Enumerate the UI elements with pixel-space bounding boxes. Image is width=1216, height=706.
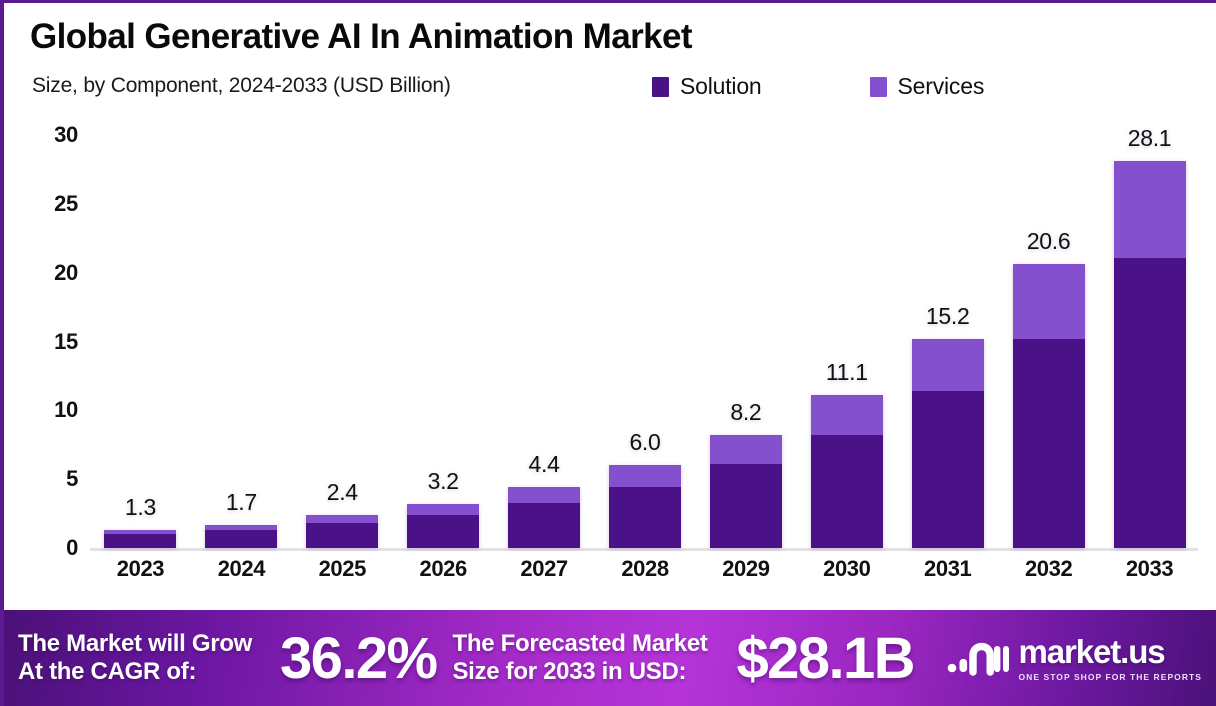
- bar-group[interactable]: 3.2: [394, 113, 492, 548]
- bar-stack[interactable]: 6.0: [609, 465, 681, 548]
- y-axis-tick: 20: [54, 260, 78, 286]
- legend-item-solution[interactable]: Solution: [652, 73, 762, 100]
- bar-segment-services[interactable]: [811, 395, 883, 435]
- bar-value-label: 20.6: [1027, 228, 1071, 255]
- bar-segment-solution[interactable]: [508, 503, 580, 548]
- bar-stack[interactable]: 15.2: [912, 339, 984, 548]
- bar-value-label: 6.0: [629, 429, 660, 456]
- bar-stack[interactable]: 11.1: [811, 395, 883, 548]
- bar-group[interactable]: 11.1: [798, 113, 896, 548]
- chart-plot-area: 051015202530 1.31.72.43.24.46.08.211.115…: [4, 113, 1216, 608]
- bar-value-label: 1.7: [226, 489, 257, 516]
- forecast-label: The Forecasted Market Size for 2033 in U…: [452, 630, 732, 687]
- x-axis-label: 2028: [596, 556, 694, 582]
- x-axis-label: 2031: [899, 556, 997, 582]
- bar-value-label: 11.1: [826, 359, 868, 386]
- bar-segment-solution[interactable]: [609, 487, 681, 548]
- bar-value-label: 4.4: [529, 451, 560, 478]
- bar-value-label: 2.4: [327, 479, 358, 506]
- bar-segment-solution[interactable]: [306, 523, 378, 548]
- bar-value-label: 15.2: [926, 303, 970, 330]
- bar-segment-services[interactable]: [710, 435, 782, 464]
- logo-text-block: market.us ONE STOP SHOP FOR THE REPORTS: [1019, 635, 1202, 682]
- x-axis-label: 2024: [192, 556, 290, 582]
- bar-group[interactable]: 28.1: [1101, 113, 1199, 548]
- x-axis-label: 2030: [798, 556, 896, 582]
- x-axis-label: 2023: [91, 556, 189, 582]
- y-axis-tick: 30: [54, 122, 78, 148]
- bar-segment-solution[interactable]: [407, 515, 479, 548]
- bar-value-label: 8.2: [730, 399, 761, 426]
- bar-segment-solution[interactable]: [710, 464, 782, 548]
- y-axis-tick: 25: [54, 191, 78, 217]
- bar-value-label: 3.2: [428, 468, 459, 495]
- bar-stack[interactable]: 3.2: [407, 504, 479, 548]
- bar-stack[interactable]: 1.3: [104, 530, 176, 548]
- bar-segment-services[interactable]: [306, 515, 378, 523]
- bar-segment-services[interactable]: [508, 487, 580, 502]
- y-axis: 051015202530: [4, 113, 90, 553]
- bar-segment-solution[interactable]: [811, 435, 883, 548]
- bar-stack[interactable]: 1.7: [205, 525, 277, 548]
- bar-value-label: 1.3: [125, 494, 156, 521]
- chart-legend: Solution Services: [652, 73, 984, 100]
- bar-segment-services[interactable]: [1114, 161, 1186, 257]
- logo-wordmark: market.us: [1019, 635, 1202, 668]
- chart-subtitle: Size, by Component, 2024-2033 (USD Billi…: [32, 74, 451, 98]
- legend-item-services[interactable]: Services: [870, 73, 985, 100]
- x-axis-line: [90, 548, 1198, 551]
- logo-tagline: ONE STOP SHOP FOR THE REPORTS: [1019, 672, 1202, 682]
- x-axis-label: 2033: [1101, 556, 1199, 582]
- bar-group[interactable]: 20.6: [1000, 113, 1098, 548]
- forecast-label-line1: The Forecasted Market: [452, 630, 707, 657]
- y-axis-tick: 15: [54, 329, 78, 355]
- bar-segment-services[interactable]: [609, 465, 681, 487]
- x-axis-label: 2026: [394, 556, 492, 582]
- bar-stack[interactable]: 8.2: [710, 435, 782, 548]
- bar-value-label: 28.1: [1128, 125, 1172, 152]
- cagr-label: The Market will Grow At the CAGR of:: [18, 630, 278, 687]
- x-axis-label: 2029: [697, 556, 795, 582]
- bar-group[interactable]: 8.2: [697, 113, 795, 548]
- market-us-logo[interactable]: market.us ONE STOP SHOP FOR THE REPORTS: [947, 635, 1202, 682]
- bar-group[interactable]: 2.4: [293, 113, 391, 548]
- bar-group[interactable]: 15.2: [899, 113, 997, 548]
- bar-stack[interactable]: 28.1: [1114, 161, 1186, 548]
- bar-segment-solution[interactable]: [205, 530, 277, 548]
- infographic-root: Global Generative AI In Animation Market…: [0, 0, 1216, 706]
- x-axis-label: 2025: [293, 556, 391, 582]
- bar-group[interactable]: 1.7: [192, 113, 290, 548]
- bar-segment-solution[interactable]: [912, 391, 984, 548]
- market-us-logo-mark-icon: [947, 638, 1009, 678]
- legend-swatch-icon-solution: [652, 77, 669, 97]
- y-axis-tick: 0: [66, 535, 78, 561]
- legend-label-solution: Solution: [680, 73, 762, 100]
- bar-segment-services[interactable]: [407, 504, 479, 515]
- forecast-value: $28.1B: [736, 625, 913, 692]
- y-axis-tick: 10: [54, 397, 78, 423]
- legend-label-services: Services: [898, 73, 985, 100]
- forecast-label-line2: Size for 2033 in USD:: [452, 658, 732, 686]
- bar-segment-services[interactable]: [1013, 264, 1085, 338]
- bar-segment-solution[interactable]: [1114, 258, 1186, 548]
- cagr-label-line1: The Market will Grow: [18, 630, 252, 657]
- bar-segment-solution[interactable]: [104, 534, 176, 548]
- bar-group[interactable]: 4.4: [495, 113, 593, 548]
- x-axis-label: 2027: [495, 556, 593, 582]
- bar-stack[interactable]: 20.6: [1013, 264, 1085, 548]
- footer-banner: The Market will Grow At the CAGR of: 36.…: [4, 610, 1216, 706]
- chart-header: Global Generative AI In Animation Market…: [4, 3, 1216, 113]
- bar-stack[interactable]: 2.4: [306, 515, 378, 548]
- bar-stack[interactable]: 4.4: [508, 487, 580, 548]
- y-axis-tick: 5: [66, 466, 78, 492]
- bar-group[interactable]: 1.3: [91, 113, 189, 548]
- cagr-label-line2: At the CAGR of:: [18, 658, 278, 686]
- legend-swatch-icon-services: [870, 77, 887, 97]
- page-title: Global Generative AI In Animation Market: [30, 17, 692, 57]
- bar-series-container: 1.31.72.43.24.46.08.211.115.220.628.1: [90, 113, 1200, 548]
- cagr-value: 36.2%: [280, 625, 436, 692]
- bar-segment-solution[interactable]: [1013, 339, 1085, 548]
- x-axis-labels: 2023202420252026202720282029203020312032…: [90, 556, 1200, 582]
- bar-group[interactable]: 6.0: [596, 113, 694, 548]
- bar-segment-services[interactable]: [912, 339, 984, 391]
- x-axis-label: 2032: [1000, 556, 1098, 582]
